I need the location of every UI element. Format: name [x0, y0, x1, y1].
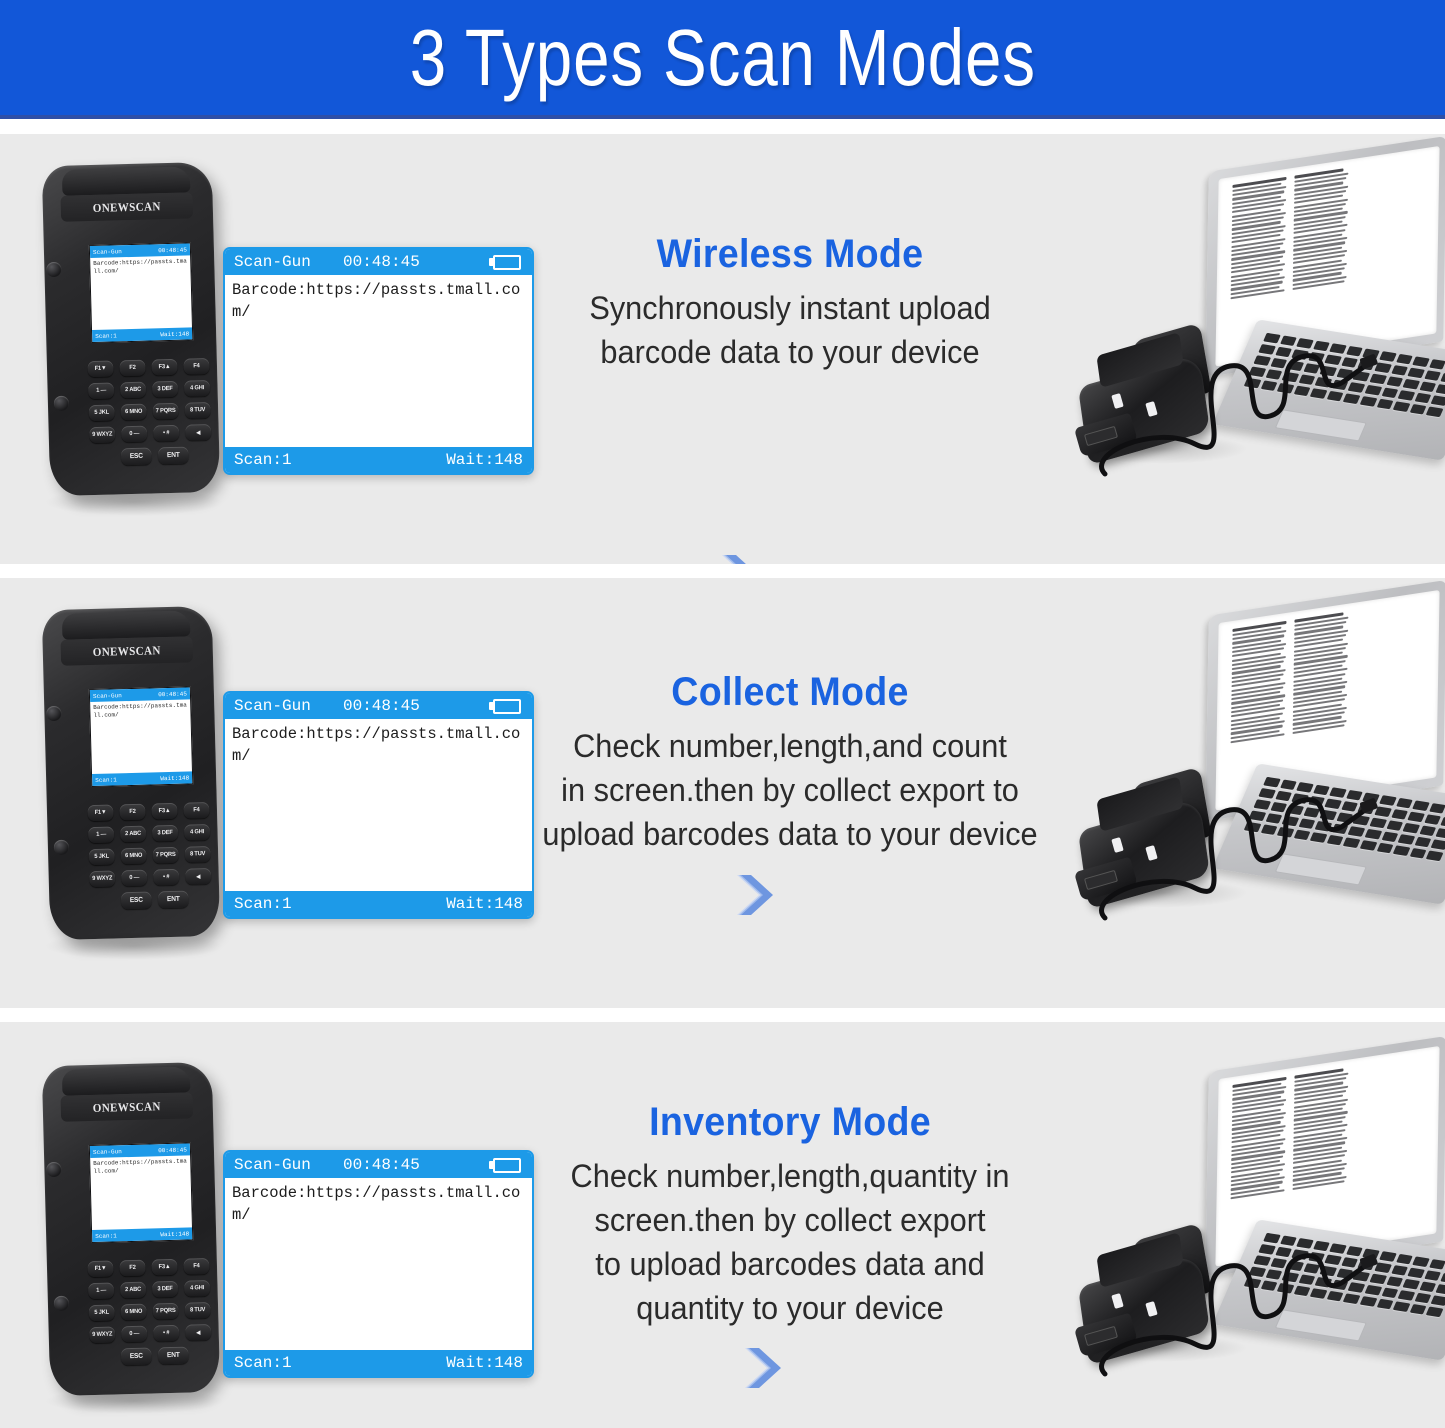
mode-title: Inventory Mode — [517, 1098, 1062, 1146]
mini-display-time: 00:48:45 — [158, 690, 187, 698]
desc-line: Check number,length,quantity in — [512, 1154, 1069, 1198]
device-shadow — [44, 932, 224, 960]
screw-icon — [54, 840, 69, 855]
spreadsheet-rows — [1230, 611, 1351, 779]
spreadsheet-column — [1230, 1077, 1289, 1236]
spreadsheet-rows — [1230, 1067, 1351, 1235]
key-6[interactable]: 6 MNO — [121, 848, 147, 865]
key-9[interactable]: 9 WXYZ — [89, 870, 115, 887]
screen-barcode-text: Barcode:https://passts.tmall.com/ — [225, 1178, 532, 1346]
keypad-row: ESC ENT — [89, 1346, 219, 1366]
mode-description: Check number,length,and count in screen.… — [516, 724, 1063, 856]
mini-display-footer: Scan:1 Wait:148 — [92, 1227, 192, 1242]
key-symbol[interactable]: • # — [153, 869, 179, 886]
cradle-shadow — [1078, 434, 1248, 464]
screen-title: Scan-Gun — [234, 697, 311, 715]
key-3[interactable]: 3 DEF — [152, 381, 178, 398]
page-title: 3 Types Scan Modes — [409, 18, 1035, 98]
key-4[interactable]: 4 GHI — [184, 1280, 210, 1297]
screen-footer-bar: Scan:1 Wait:148 — [225, 1350, 532, 1376]
cradle-shadow — [1078, 878, 1248, 908]
screen-header-bar: Scan-Gun 00:48:45 — [225, 693, 532, 719]
keypad-row: 1 — 2 ABC 3 DEF 4 GHI — [87, 824, 217, 843]
key-3[interactable]: 3 DEF — [152, 825, 178, 842]
key-f1[interactable]: F1▼ — [88, 1260, 114, 1277]
keypad-row: 9 WXYZ 0 — • # ◀ — [89, 1324, 219, 1343]
mini-scan-count: Scan:1 — [95, 332, 117, 340]
brand-logo: ONEWSCAN — [93, 1099, 161, 1116]
barcode-scanner-device: ONEWSCAN Scan-Gun 00:48:45 Barcode:https… — [38, 602, 248, 952]
key-ent[interactable]: ENT — [157, 891, 188, 909]
key-5[interactable]: 5 JKL — [89, 404, 115, 421]
key-f1[interactable]: F1▼ — [88, 804, 114, 821]
laptop-keyboard — [1239, 1233, 1445, 1328]
spreadsheet-column — [1292, 1067, 1351, 1226]
mini-display-barcode: Barcode:https://passts.tmall.com/ — [90, 699, 190, 722]
scanner-top-lip — [62, 166, 191, 195]
header-banner: 3 Types Scan Modes — [0, 0, 1445, 115]
mini-display-footer: Scan:1 Wait:148 — [92, 327, 192, 342]
screen-footer-bar: Scan:1 Wait:148 — [225, 891, 532, 917]
key-8[interactable]: 8 TUV — [185, 1302, 211, 1319]
keypad-row: 1 — 2 ABC 3 DEF 4 GHI — [87, 1280, 217, 1299]
panel-divider — [0, 1008, 1445, 1022]
key-symbol[interactable]: • # — [153, 425, 179, 442]
keypad-row: 9 WXYZ 0 — • # ◀ — [89, 424, 219, 443]
keypad-row: F1▼ F2 F3▲ F4 — [87, 1258, 217, 1277]
panel-wireless-mode: ONEWSCAN Scan-Gun 00:48:45 Barcode:https… — [0, 134, 1445, 564]
scanner-keypad[interactable]: F1▼ F2 F3▲ F4 1 — 2 ABC 3 DEF 4 GHI 5 JK… — [87, 802, 220, 916]
desc-line: barcode data to your device — [516, 330, 1063, 374]
key-ent[interactable]: ENT — [157, 1347, 188, 1365]
screen-clock: 00:48:45 — [343, 697, 420, 715]
panel-divider — [0, 564, 1445, 578]
mini-wait-count: Wait:148 — [160, 774, 189, 782]
mode-description: Synchronously instant upload barcode dat… — [516, 286, 1063, 374]
mini-display-barcode: Barcode:https://passts.tmall.com/ — [90, 1155, 190, 1178]
brand-logo: ONEWSCAN — [93, 199, 161, 216]
key-8[interactable]: 8 TUV — [185, 846, 211, 863]
scanner-mini-display: Scan-Gun 00:48:45 Barcode:https://passts… — [89, 686, 194, 787]
key-9[interactable]: 9 WXYZ — [89, 426, 115, 443]
scanner-body: ONEWSCAN Scan-Gun 00:48:45 Barcode:https… — [42, 162, 221, 496]
keypad-row: 5 JKL 6 MNO 7 PQRS 8 TUV — [88, 846, 218, 865]
screen-clock: 00:48:45 — [343, 253, 420, 271]
key-ent[interactable]: ENT — [157, 447, 188, 465]
key-0[interactable]: 0 — — [121, 1326, 147, 1343]
key-esc[interactable]: ESC — [120, 1348, 151, 1366]
key-symbol[interactable]: • # — [153, 1325, 179, 1342]
panel-inventory-mode: ONEWSCAN Scan-Gun 00:48:45 Barcode:https… — [0, 1022, 1445, 1428]
mini-wait-count: Wait:148 — [160, 330, 189, 338]
scanner-logo-plate: ONEWSCAN — [60, 636, 193, 665]
screen-title: Scan-Gun — [234, 253, 311, 271]
device-shadow — [44, 1388, 224, 1414]
scanner-logo-plate: ONEWSCAN — [60, 1092, 193, 1121]
desc-line: screen.then by collect export — [512, 1198, 1069, 1242]
keypad-row: 9 WXYZ 0 — • # ◀ — [89, 868, 219, 887]
key-9[interactable]: 9 WXYZ — [89, 1326, 115, 1343]
screen-header-bar: Scan-Gun 00:48:45 — [225, 249, 532, 275]
scanner-logo-plate: ONEWSCAN — [60, 192, 193, 221]
mini-display-title: Scan-Gun — [93, 1148, 122, 1156]
screw-icon — [54, 1296, 69, 1311]
screen-footer-bar: Scan:1 Wait:148 — [225, 447, 532, 473]
key-5[interactable]: 5 JKL — [89, 1304, 115, 1321]
infographic-page: 3 Types Scan Modes ONEWSCAN Scan-Gun 00:… — [0, 0, 1445, 1428]
keypad-row: 1 — 2 ABC 3 DEF 4 GHI — [87, 380, 217, 399]
laptop-keyboard — [1239, 777, 1445, 872]
screen-header-bar: Scan-Gun 00:48:45 — [225, 1152, 532, 1178]
key-f3[interactable]: F3▲ — [151, 803, 177, 820]
key-f2[interactable]: F2 — [119, 360, 145, 377]
keypad-row: 5 JKL 6 MNO 7 PQRS 8 TUV — [88, 402, 218, 421]
mode-title: Wireless Mode — [522, 230, 1058, 278]
key-back[interactable]: ◀ — [185, 868, 211, 885]
banner-underline — [0, 115, 1445, 119]
text-block-wireless: Wireless Mode Synchronously instant uplo… — [505, 230, 1075, 374]
text-block-inventory: Inventory Mode Check number,length,quant… — [500, 1098, 1080, 1330]
key-0[interactable]: 0 — — [121, 426, 147, 443]
key-4[interactable]: 4 GHI — [184, 824, 210, 841]
desc-line: in screen.then by collect export to — [516, 768, 1063, 812]
desc-line: to upload barcodes data and — [512, 1242, 1069, 1286]
key-f2[interactable]: F2 — [119, 1260, 145, 1277]
key-0[interactable]: 0 — — [121, 870, 147, 887]
scanner-body: ONEWSCAN Scan-Gun 00:48:45 Barcode:https… — [42, 606, 221, 940]
scanner-top-lip — [62, 1066, 191, 1095]
key-6[interactable]: 6 MNO — [121, 1304, 147, 1321]
keypad-row: ESC ENT — [89, 890, 219, 910]
key-esc[interactable]: ESC — [120, 448, 151, 466]
key-7[interactable]: 7 PQRS — [153, 847, 179, 864]
scanner-top-lip — [62, 610, 191, 639]
key-7[interactable]: 7 PQRS — [153, 1303, 179, 1320]
key-f4[interactable]: F4 — [183, 358, 209, 375]
panel-collect-mode: ONEWSCAN Scan-Gun 00:48:45 Barcode:https… — [0, 578, 1445, 1008]
barcode-scanner-device: ONEWSCAN Scan-Gun 00:48:45 Barcode:https… — [38, 158, 248, 508]
spreadsheet-rows — [1230, 167, 1351, 335]
key-f2[interactable]: F2 — [119, 804, 145, 821]
enlarged-screen-callout: Scan-Gun 00:48:45 Barcode:https://passts… — [223, 691, 534, 919]
spreadsheet-column — [1292, 611, 1351, 770]
mini-display-footer: Scan:1 Wait:148 — [92, 771, 192, 786]
scanner-keypad[interactable]: F1▼ F2 F3▲ F4 1 — 2 ABC 3 DEF 4 GHI 5 JK… — [87, 358, 220, 472]
key-2[interactable]: 2 ABC — [120, 826, 146, 843]
key-8[interactable]: 8 TUV — [185, 402, 211, 419]
desc-line: upload barcodes data to your device — [516, 812, 1063, 856]
screen-barcode-text: Barcode:https://passts.tmall.com/ — [225, 719, 532, 887]
key-2[interactable]: 2 ABC — [120, 1282, 146, 1299]
key-1[interactable]: 1 — — [88, 382, 114, 399]
key-f1[interactable]: F1▼ — [88, 360, 114, 377]
screen-wait-count: Wait:148 — [446, 1354, 523, 1372]
spreadsheet-column — [1292, 167, 1351, 326]
enlarged-screen-callout: Scan-Gun 00:48:45 Barcode:https://passts… — [223, 247, 534, 475]
spreadsheet-column — [1230, 177, 1289, 336]
scanner-keypad[interactable]: F1▼ F2 F3▲ F4 1 — 2 ABC 3 DEF 4 GHI 5 JK… — [87, 1258, 220, 1372]
cradle-shadow — [1078, 1334, 1248, 1362]
mini-scan-count: Scan:1 — [95, 776, 117, 784]
keypad-row: F1▼ F2 F3▲ F4 — [87, 358, 217, 377]
spreadsheet-column — [1230, 621, 1289, 780]
key-back[interactable]: ◀ — [185, 1324, 211, 1341]
device-shadow — [44, 488, 224, 516]
scanner-mini-display: Scan-Gun 00:48:45 Barcode:https://passts… — [89, 242, 194, 343]
key-3[interactable]: 3 DEF — [152, 1281, 178, 1298]
text-block-collect: Collect Mode Check number,length,and cou… — [505, 668, 1075, 856]
mode-title: Collect Mode — [522, 668, 1058, 716]
key-1[interactable]: 1 — — [88, 1282, 114, 1299]
screw-icon — [46, 262, 61, 277]
mode-description: Check number,length,quantity in screen.t… — [512, 1154, 1069, 1330]
key-esc[interactable]: ESC — [120, 892, 151, 910]
key-2[interactable]: 2 ABC — [120, 382, 146, 399]
keypad-row: 5 JKL 6 MNO 7 PQRS 8 TUV — [88, 1302, 218, 1321]
keypad-row: F1▼ F2 F3▲ F4 — [87, 802, 217, 821]
key-f3[interactable]: F3▲ — [151, 359, 177, 376]
mini-display-barcode: Barcode:https://passts.tmall.com/ — [90, 255, 190, 278]
enlarged-screen-callout: Scan-Gun 00:48:45 Barcode:https://passts… — [223, 1150, 534, 1378]
key-4[interactable]: 4 GHI — [184, 380, 210, 397]
scanner-mini-display: Scan-Gun 00:48:45 Barcode:https://passts… — [89, 1142, 194, 1243]
screen-scan-count: Scan:1 — [234, 451, 292, 469]
key-5[interactable]: 5 JKL — [89, 848, 115, 865]
key-7[interactable]: 7 PQRS — [153, 403, 179, 420]
key-1[interactable]: 1 — — [88, 826, 114, 843]
key-6[interactable]: 6 MNO — [121, 404, 147, 421]
key-back[interactable]: ◀ — [185, 424, 211, 441]
mini-display-title: Scan-Gun — [93, 248, 122, 256]
mini-display-time: 00:48:45 — [158, 246, 187, 254]
scanner-body: ONEWSCAN Scan-Gun 00:48:45 Barcode:https… — [42, 1062, 221, 1396]
mini-scan-count: Scan:1 — [95, 1232, 117, 1240]
keypad-row: ESC ENT — [89, 446, 219, 466]
desc-line: Synchronously instant upload — [516, 286, 1063, 330]
barcode-scanner-device: ONEWSCAN Scan-Gun 00:48:45 Barcode:https… — [38, 1058, 248, 1408]
screw-icon — [54, 396, 69, 411]
screen-clock: 00:48:45 — [343, 1156, 420, 1174]
screen-wait-count: Wait:148 — [446, 895, 523, 913]
brand-logo: ONEWSCAN — [93, 643, 161, 660]
mini-wait-count: Wait:148 — [160, 1230, 189, 1238]
desc-line: quantity to your device — [512, 1286, 1069, 1330]
screen-title: Scan-Gun — [234, 1156, 311, 1174]
desc-line: Check number,length,and count — [516, 724, 1063, 768]
screw-icon — [46, 1162, 61, 1177]
laptop-keyboard — [1239, 333, 1445, 428]
screen-barcode-text: Barcode:https://passts.tmall.com/ — [225, 275, 532, 443]
key-f4[interactable]: F4 — [183, 1258, 209, 1275]
screen-scan-count: Scan:1 — [234, 895, 292, 913]
screw-icon — [46, 706, 61, 721]
mini-display-time: 00:48:45 — [158, 1146, 187, 1154]
screen-scan-count: Scan:1 — [234, 1354, 292, 1372]
screen-wait-count: Wait:148 — [446, 451, 523, 469]
mini-display-title: Scan-Gun — [93, 692, 122, 700]
key-f3[interactable]: F3▲ — [151, 1259, 177, 1276]
key-f4[interactable]: F4 — [183, 802, 209, 819]
